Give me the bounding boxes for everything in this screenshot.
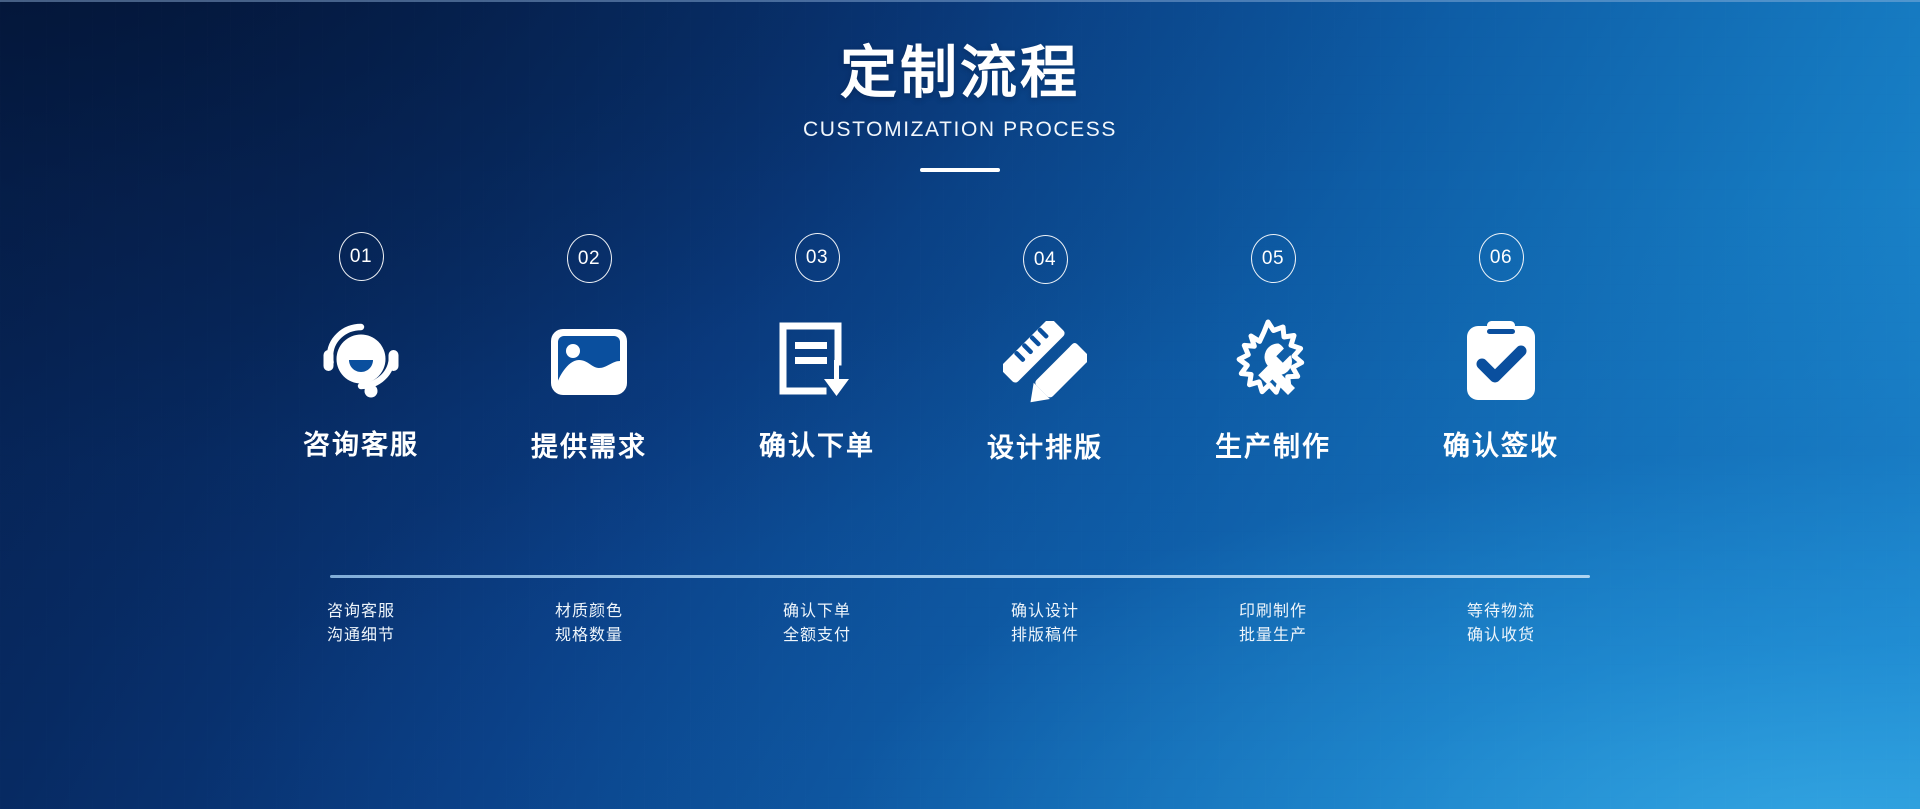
step-description-5: 印刷制作 批量生产 (1178, 600, 1368, 649)
image-picture-icon (549, 319, 629, 405)
desc-line-2: 排版稿件 (950, 624, 1140, 648)
step-label: 设计排版 (987, 426, 1103, 465)
step-description-2: 材质颜色 规格数量 (494, 600, 684, 649)
step-description-6: 等待物流 确认收货 (1406, 600, 1596, 649)
step-description-1: 咨询客服 沟通细节 (266, 600, 456, 649)
desc-line-2: 全额支付 (722, 624, 912, 648)
process-step-5[interactable]: 05 生产制作 (1178, 234, 1368, 464)
process-descriptions-row: 咨询客服 沟通细节 材质颜色 规格数量 确认下单 全额支付 确认设计 排版稿件 … (266, 600, 1596, 649)
steps-divider-line (330, 575, 1590, 578)
desc-line-1: 等待物流 (1406, 600, 1596, 624)
desc-line-2: 沟通细节 (266, 624, 456, 648)
step-number-badge: 05 (1251, 234, 1296, 283)
desc-line-1: 确认设计 (950, 600, 1140, 624)
process-step-3[interactable]: 03 确认下单 (722, 233, 912, 463)
step-number-badge: 02 (567, 234, 612, 283)
desc-line-2: 规格数量 (494, 624, 684, 648)
page-title: 定制流程 (0, 0, 1920, 104)
process-step-4[interactable]: 04 设计排版 (950, 235, 1140, 465)
desc-line-1: 材质颜色 (494, 600, 684, 624)
document-download-icon (776, 318, 858, 404)
pencil-ruler-icon (1003, 320, 1087, 406)
step-description-4: 确认设计 排版稿件 (950, 600, 1140, 649)
process-steps-row: 01 咨询客服 02 (266, 232, 1596, 465)
page-subtitle: CUSTOMIZATION PROCESS (0, 118, 1920, 142)
banner-header: 定制流程 CUSTOMIZATION PROCESS (0, 0, 1920, 172)
step-number-badge: 06 (1479, 233, 1524, 282)
desc-line-2: 批量生产 (1178, 624, 1368, 648)
step-label: 生产制作 (1215, 425, 1331, 464)
step-label: 确认签收 (1443, 424, 1559, 463)
process-step-1[interactable]: 01 咨询客服 (266, 232, 456, 462)
desc-line-1: 确认下单 (722, 600, 912, 624)
step-number-badge: 04 (1023, 235, 1068, 284)
step-label: 咨询客服 (303, 423, 419, 462)
step-label: 确认下单 (759, 424, 875, 463)
headset-support-icon (319, 317, 403, 403)
desc-line-1: 印刷制作 (1178, 600, 1368, 624)
step-number-badge: 01 (339, 232, 384, 281)
step-number-badge: 03 (795, 233, 840, 282)
step-description-3: 确认下单 全额支付 (722, 600, 912, 649)
customization-process-banner: 定制流程 CUSTOMIZATION PROCESS 01 咨询客服 (0, 0, 1920, 809)
clipboard-check-icon (1465, 318, 1537, 404)
title-underline-rule (920, 168, 1000, 172)
process-step-6[interactable]: 06 确认签收 (1406, 233, 1596, 463)
desc-line-1: 咨询客服 (266, 600, 456, 624)
step-label: 提供需求 (531, 425, 647, 464)
desc-line-2: 确认收货 (1406, 624, 1596, 648)
gear-wrench-icon (1230, 319, 1316, 405)
process-step-2[interactable]: 02 提供需求 (494, 234, 684, 464)
